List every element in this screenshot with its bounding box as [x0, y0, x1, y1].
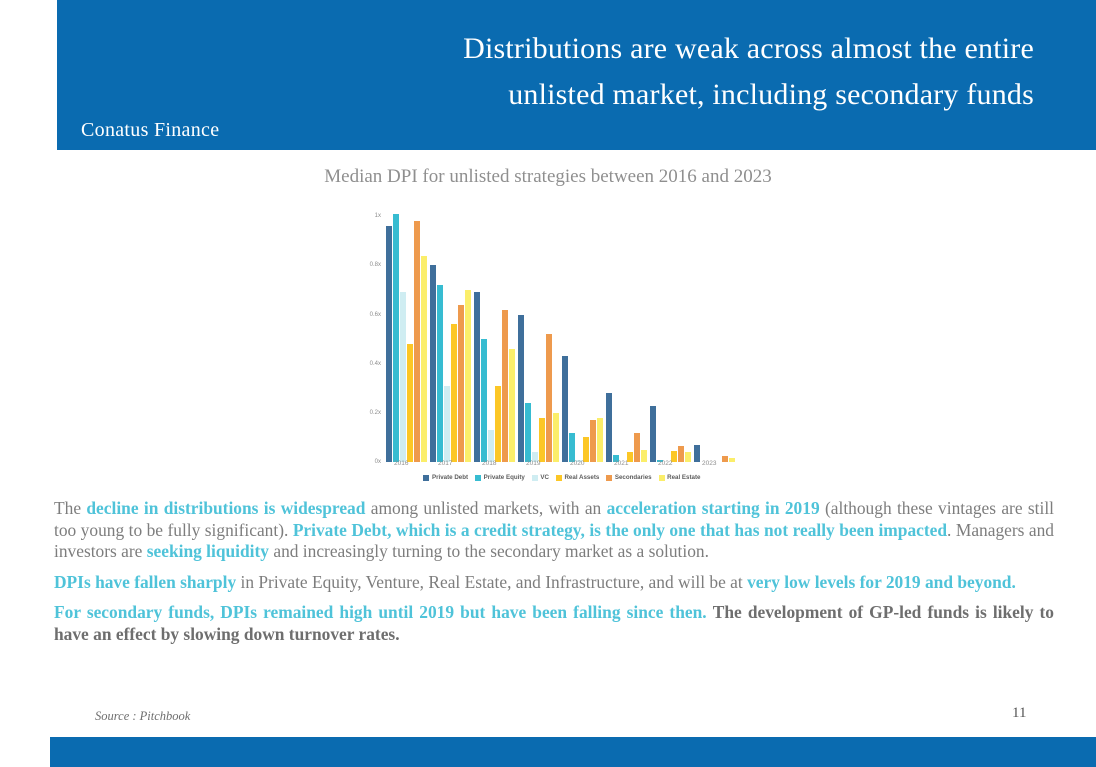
legend-item[interactable]: VC — [532, 474, 549, 481]
chart-bar-groups — [386, 204, 738, 462]
legend-label: Private Debt — [432, 474, 468, 481]
chart-bar — [488, 430, 494, 462]
chart-bar-group — [562, 204, 606, 462]
legend-swatch-icon — [606, 475, 612, 481]
x-tick-label: 2022 — [650, 460, 694, 467]
legend-label: Private Equity — [484, 474, 525, 481]
legend-label: VC — [540, 474, 549, 481]
page-title-line1: Distributions are weak across almost the… — [274, 26, 1034, 72]
chart-bar — [606, 393, 612, 462]
chart-bar — [518, 315, 524, 462]
y-tick-label: 0.2x — [370, 410, 381, 416]
footer-band — [50, 737, 1096, 767]
chart-title: Median DPI for unlisted strategies betwe… — [0, 166, 1096, 188]
chart-bar — [465, 290, 471, 462]
chart-bar — [444, 386, 450, 462]
chart-bar — [400, 292, 406, 462]
legend-item[interactable]: Private Debt — [423, 474, 468, 481]
chart-bar-group — [386, 204, 430, 462]
chart-bar — [553, 413, 559, 462]
paragraph-3: For secondary funds, DPIs remained high … — [54, 602, 1054, 645]
chart-bar — [590, 420, 596, 462]
p2-s1: in Private Equity, Venture, Real Estate,… — [236, 572, 747, 592]
legend-item[interactable]: Real Estate — [659, 474, 701, 481]
chart-bar — [650, 406, 656, 463]
chart-bar-group — [430, 204, 474, 462]
chart-bar — [458, 305, 464, 462]
chart-plot-area — [386, 204, 738, 462]
x-tick-label: 2018 — [474, 460, 518, 467]
p2-h1: DPIs have fallen sharply — [54, 572, 236, 592]
x-tick-label: 2016 — [386, 460, 430, 467]
chart-bar — [634, 433, 640, 462]
chart-y-axis: 0x0.2x0.4x0.6x0.8x1x — [358, 198, 384, 462]
chart-bar-group — [694, 204, 738, 462]
chart-bar — [569, 433, 575, 462]
brand-logo-text: Conatus Finance — [81, 119, 219, 142]
x-tick-label: 2020 — [562, 460, 606, 467]
page-number: 11 — [1012, 705, 1026, 722]
y-tick-label: 0.8x — [370, 262, 381, 268]
legend-item[interactable]: Private Equity — [475, 474, 525, 481]
chart-bar — [474, 292, 480, 462]
chart-bar — [451, 324, 457, 462]
source-note: Source : Pitchbook — [95, 709, 190, 724]
y-tick-label: 0.6x — [370, 312, 381, 318]
legend-swatch-icon — [556, 475, 562, 481]
body-text: The decline in distributions is widespre… — [54, 498, 1054, 645]
chart-bar — [414, 221, 420, 462]
chart-bar-group — [650, 204, 694, 462]
chart-bar — [421, 256, 427, 462]
x-tick-label: 2017 — [430, 460, 474, 467]
chart-bar — [509, 349, 515, 462]
chart-bar — [539, 418, 545, 462]
legend-label: Real Estate — [667, 474, 700, 481]
chart-container: 0x0.2x0.4x0.6x0.8x1x 2016201720182019202… — [358, 198, 748, 493]
legend-label: Secondaries — [615, 474, 652, 481]
y-tick-label: 1x — [375, 213, 381, 219]
chart-bar — [562, 356, 568, 462]
legend-label: Real Assets — [564, 474, 599, 481]
chart-bar-group — [606, 204, 650, 462]
paragraph-2: DPIs have fallen sharply in Private Equi… — [54, 572, 1054, 594]
page-title-line2: unlisted market, including secondary fun… — [274, 72, 1034, 118]
legend-swatch-icon — [532, 475, 538, 481]
p1-s5: and increasingly turning to the secondar… — [269, 541, 709, 561]
p1-h3: Private Debt, which is a credit strategy… — [293, 520, 947, 540]
p3-h1: For secondary funds, DPIs remained high … — [54, 602, 707, 622]
chart-legend: Private DebtPrivate EquityVCReal AssetsS… — [386, 474, 738, 481]
x-tick-label: 2019 — [518, 460, 562, 467]
p1-h2: acceleration starting in 2019 — [607, 498, 820, 518]
legend-swatch-icon — [659, 475, 665, 481]
chart-bar — [386, 226, 392, 462]
chart-bar — [597, 418, 603, 462]
legend-item[interactable]: Secondaries — [606, 474, 651, 481]
chart-bar — [481, 339, 487, 462]
chart-bar-group — [474, 204, 518, 462]
x-tick-label: 2021 — [606, 460, 650, 467]
chart-bar — [430, 265, 436, 462]
p1-s2: among unlisted markets, with an — [365, 498, 606, 518]
chart-bar — [437, 285, 443, 462]
p1-h4: seeking liquidity — [147, 541, 269, 561]
chart-bar — [525, 403, 531, 462]
chart-bar — [407, 344, 413, 462]
page-title: Distributions are weak across almost the… — [274, 26, 1034, 118]
chart-bar — [495, 386, 501, 462]
p2-h2: very low levels for 2019 and beyond. — [747, 572, 1016, 592]
legend-item[interactable]: Real Assets — [556, 474, 599, 481]
p1-h1: decline in distributions is widespread — [86, 498, 365, 518]
legend-swatch-icon — [475, 475, 481, 481]
chart-bar-group — [518, 204, 562, 462]
x-tick-label: 2023 — [694, 460, 738, 467]
legend-swatch-icon — [423, 475, 429, 481]
paragraph-1: The decline in distributions is widespre… — [54, 498, 1054, 563]
chart-bar — [583, 437, 589, 462]
p1-s1: The — [54, 498, 86, 518]
chart-bar — [393, 214, 399, 462]
y-tick-label: 0.4x — [370, 361, 381, 367]
chart-bar — [502, 310, 508, 462]
y-tick-label: 0x — [375, 459, 381, 465]
chart-x-axis: 20162017201820192020202120222023 — [386, 460, 738, 467]
chart-bar — [546, 334, 552, 462]
